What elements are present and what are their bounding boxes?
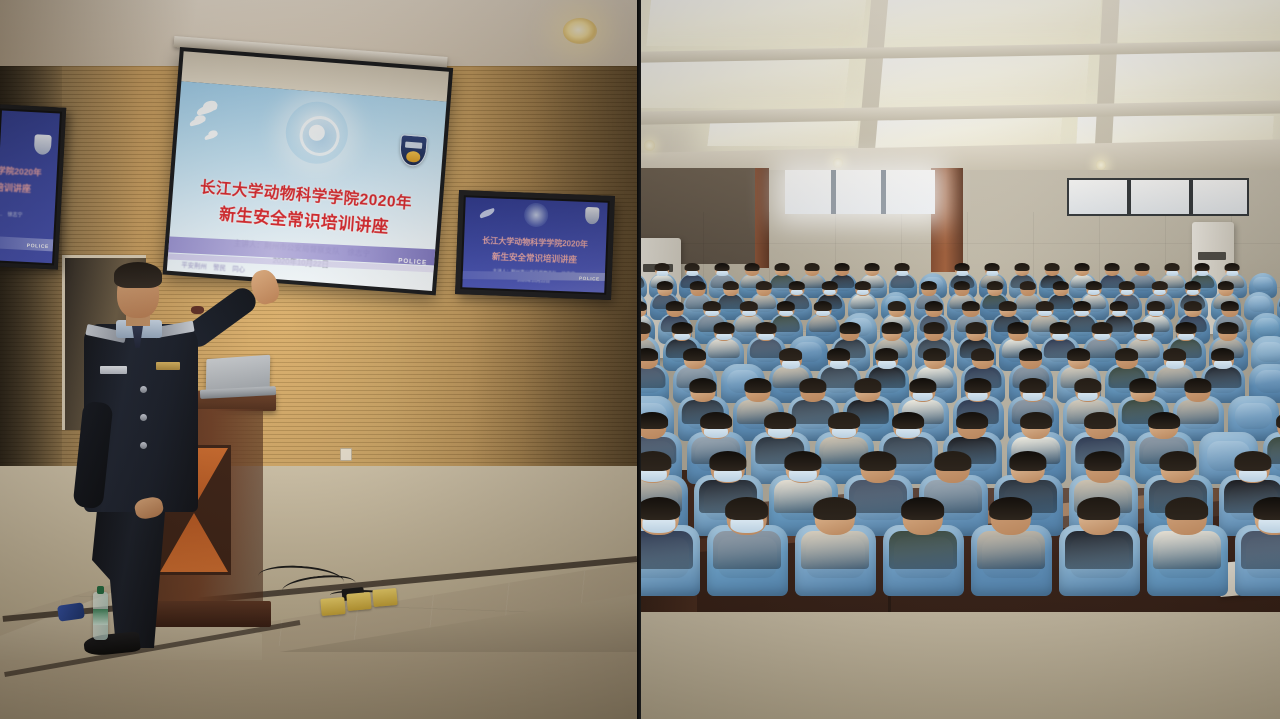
lecture-hall-audience-photo [637, 0, 1280, 719]
audience-member-hair [1165, 263, 1180, 271]
audience-member-hair [1165, 497, 1209, 521]
face-mask [1088, 289, 1100, 295]
bottle-label [93, 609, 108, 625]
audience-member-hair [709, 451, 746, 471]
audience-member-hair [892, 412, 924, 429]
two-photo-composite: 长江大学动物科学学院2020年 新生安全常识培训讲座 主讲人：荆州市公安局督察支… [0, 0, 1280, 719]
audience-member-hair [901, 497, 945, 521]
audience-member-torso [750, 339, 782, 357]
audience-member [786, 455, 821, 505]
ceiling-spotlight-icon [563, 18, 597, 44]
audience-member [829, 415, 858, 458]
audience-member [828, 351, 850, 384]
audience-member [740, 303, 757, 329]
audience-member-hair [755, 322, 776, 334]
audience-member-hair [1152, 281, 1168, 290]
police-emblem-icon [284, 99, 351, 166]
audience-member-hair [1019, 348, 1043, 361]
audience-member-hair [671, 322, 692, 334]
audience-member [814, 303, 831, 329]
audience-member-hair [1148, 412, 1180, 429]
face-mask [1154, 289, 1166, 295]
downlight-icon [644, 140, 655, 151]
audience-member-hair [1009, 451, 1046, 471]
wall-monitor-right: 长江大学动物科学学院2020年 新生安全常识培训讲座 主讲人：荆州市公安局督察支… [455, 190, 615, 300]
audience-member-hair [1045, 263, 1060, 271]
audience-member-hair [1183, 301, 1201, 311]
monitor-left-screen: …学院2020年 …培训讲座 主讲人… 徐志宁 POLICE [0, 110, 60, 263]
face-mask [857, 289, 869, 295]
audience-member-hair [776, 301, 794, 311]
audience-member-hair [1086, 281, 1102, 290]
audience-member-hair [775, 263, 790, 271]
audience-member-hair [813, 301, 831, 311]
downlight-icon [833, 158, 843, 168]
audience-member [638, 501, 678, 560]
audience-member [876, 351, 898, 384]
dove-icon [479, 208, 496, 219]
audience-member [780, 351, 802, 384]
audience-member-hair [895, 263, 910, 271]
audience-member-hair [955, 263, 970, 271]
audience-member-hair [1175, 322, 1196, 334]
monitor-right-title-line2: 新生安全常识培训讲座 [463, 249, 605, 266]
face-mask [768, 427, 792, 438]
slide-surface: 长江大学动物科学学院2020年 新生安全常识培训讲座 主讲人：荆州市公安局督察支… [167, 81, 447, 291]
audience-member-hair [715, 263, 730, 271]
monitor-left-police-wordmark: POLICE [27, 243, 50, 250]
audience-member [1212, 351, 1234, 384]
audience-member-hair [859, 451, 896, 471]
face-mask [1214, 360, 1232, 369]
audience-member-hair [887, 301, 905, 311]
window-mullion [1189, 180, 1193, 214]
audience-member-hair [921, 281, 937, 290]
audience-member-torso [708, 339, 740, 357]
audience-member-torso [977, 531, 1045, 569]
audience-member [1078, 501, 1118, 560]
audience-member-hair [934, 451, 971, 471]
audience-member-hair [1135, 263, 1150, 271]
audience-member-hair [637, 412, 668, 429]
audience-member-hair [964, 378, 991, 393]
audience-member-hair [739, 301, 757, 311]
audience-member-hair [854, 378, 881, 393]
audience-member [714, 325, 733, 354]
audience-member-hair [828, 412, 860, 429]
audience-member-hair [723, 281, 739, 290]
uniform-button [140, 414, 147, 421]
audience-member [1073, 303, 1090, 329]
audience-member-hair [744, 378, 771, 393]
audience-member-hair [1253, 497, 1280, 521]
face-mask [779, 310, 793, 317]
audience-member [990, 501, 1030, 560]
audience-member-hair [1220, 301, 1238, 311]
audience-member [861, 455, 896, 505]
audience-member-hair [657, 281, 673, 290]
audience-member-hair [839, 322, 860, 334]
audience-member-hair [954, 281, 970, 290]
audience-member-hair [1072, 301, 1090, 311]
uniform-button [140, 442, 147, 449]
audience-member-hair [1225, 263, 1240, 271]
audience-member-hair [764, 412, 796, 429]
audience-member-hair [1020, 412, 1052, 429]
audience-member-hair [1015, 263, 1030, 271]
audience-member-hair [1146, 301, 1164, 311]
audience-member-hair [1074, 378, 1101, 393]
auditorium-seats [637, 262, 1280, 562]
audience-member-hair [923, 322, 944, 334]
audience-member-hair [1129, 378, 1156, 393]
monitor-right-police-wordmark: POLICE [579, 276, 600, 282]
audience-member-hair [875, 348, 899, 361]
audience-member-hair [683, 348, 707, 361]
monitor-left-title-line2: …培训讲座 [0, 180, 31, 195]
face-mask [639, 469, 667, 482]
audience-member-torso [849, 480, 907, 512]
cable-floor-cover [346, 592, 371, 611]
audience-member [1185, 381, 1210, 419]
speaker-hair [114, 262, 162, 288]
face-mask [704, 427, 728, 438]
audience-member [1020, 283, 1035, 306]
face-mask [1121, 289, 1133, 295]
police-officer-speaker [60, 262, 250, 652]
audience-member-hair [1109, 301, 1127, 311]
audience-member-hair [1019, 378, 1046, 393]
audience-member-hair [637, 497, 680, 521]
audience-member [756, 283, 771, 306]
audience-member-hair [1067, 348, 1091, 361]
face-mask [830, 360, 848, 369]
audience-member-hair [689, 378, 716, 393]
audience-member [896, 265, 910, 286]
face-mask [791, 289, 803, 295]
audience-member-torso [891, 275, 914, 288]
audience-member-hair [827, 348, 851, 361]
audience-member-hair [700, 412, 732, 429]
face-mask [1075, 310, 1089, 317]
speaker-name-badge [100, 366, 127, 374]
police-shield-badge-icon [34, 134, 52, 155]
audience-member-hair [1053, 281, 1069, 290]
audience-member [814, 501, 854, 560]
rear-window [1067, 178, 1249, 216]
audience-member-hair [1077, 497, 1121, 521]
speaker-mouth [191, 306, 204, 314]
face-mask [832, 427, 856, 438]
audience-member-hair [985, 263, 1000, 271]
audience-member-torso [1086, 339, 1118, 357]
audience-member [1110, 303, 1127, 329]
audience-member-hair [637, 451, 671, 471]
audience-member [745, 381, 770, 419]
audience-member-hair [813, 497, 857, 521]
ceiling-light-panel [878, 0, 1102, 48]
rear-window [785, 170, 935, 214]
audience-member [765, 415, 794, 458]
uniform-button [140, 386, 147, 393]
audience-member-hair [756, 281, 772, 290]
audience-member-hair [1007, 322, 1028, 334]
dove-icon [196, 103, 219, 116]
aisle-floor [637, 612, 1280, 719]
audience-member-hair [799, 378, 826, 393]
audience-member [1050, 325, 1069, 354]
audience-member-hair [1195, 263, 1210, 271]
audience-member-hair [1115, 348, 1139, 361]
audience-member-hair [1217, 322, 1238, 334]
wall-monitor-left: …学院2020年 …培训讲座 主讲人… 徐志宁 POLICE [0, 104, 66, 269]
dove-icon [204, 132, 219, 140]
audience-member [1166, 265, 1180, 286]
monitor-right-title-line1: 长江大学动物科学学院2020年 [464, 234, 606, 250]
audience-member-hair [702, 301, 720, 311]
projection-screen: 长江大学动物科学学院2020年 新生安全常识培训讲座 主讲人：荆州市公安局督察支… [163, 47, 454, 295]
ceiling-light-panel [874, 118, 1062, 148]
audience-member-torso [637, 531, 693, 569]
audience-member-hair [1091, 322, 1112, 334]
audience-member [936, 455, 971, 505]
ceiling-light-panel [637, 56, 850, 108]
face-mask [1112, 310, 1126, 317]
audience-member [893, 415, 922, 458]
audience-member-torso [1065, 531, 1133, 569]
audience-member-torso [889, 531, 957, 569]
audience-member-hair [989, 497, 1033, 521]
audience-member-hair [1276, 412, 1280, 429]
audience-member-hair [1163, 348, 1187, 361]
audience-member-hair [998, 301, 1016, 311]
water-bottle [93, 592, 108, 640]
audience-member-hair [1133, 322, 1154, 334]
audience-member-hair [822, 281, 838, 290]
audience-member-hair [1218, 281, 1234, 290]
audience-member-hair [779, 348, 803, 361]
photo-divider [637, 0, 641, 719]
window-mullion [881, 170, 886, 214]
police-shield-badge-icon [399, 134, 428, 167]
audience-member [723, 283, 738, 306]
audience-member-hair [1035, 301, 1053, 311]
audience-member-hair [655, 263, 670, 271]
audience-member [726, 501, 766, 560]
audience-member-hair [971, 348, 995, 361]
police-emblem-icon [524, 203, 549, 228]
audience-member [756, 325, 775, 354]
audience-member [1134, 325, 1153, 354]
audience-member-hair [685, 263, 700, 271]
audience-member [836, 265, 850, 286]
monitor-left-subtitle: 主讲人… 徐志宁 [0, 210, 23, 219]
audience-member-hair [1211, 348, 1235, 361]
audience-member [855, 283, 870, 306]
face-mask [1239, 469, 1267, 482]
audience-member [855, 381, 880, 419]
audience-member-hair [1020, 281, 1036, 290]
face-mask [1166, 360, 1184, 369]
audience-member-hair [961, 301, 979, 311]
audience-member-torso [637, 367, 665, 388]
police-shield-badge-icon [585, 207, 600, 225]
audience-member-hair [665, 301, 683, 311]
audience-member-hair [1105, 263, 1120, 271]
face-mask [742, 310, 756, 317]
audience-member-hair [1234, 451, 1271, 471]
audience-member-hair [1159, 451, 1196, 471]
ceiling-light-panel [863, 54, 1089, 110]
face-mask [705, 310, 719, 317]
monitor-right-screen: 长江大学动物科学学院2020年 新生安全常识培训讲座 主讲人：荆州市公安局督察支… [462, 197, 607, 292]
audience-member [1130, 381, 1155, 419]
face-mask [1149, 310, 1163, 317]
audience-member-hair [835, 263, 850, 271]
audience-member-hair [1084, 451, 1121, 471]
audience-member-hair [745, 263, 760, 271]
cable-floor-cover [320, 597, 345, 616]
audience-member-torso [713, 531, 781, 569]
audience-member [1166, 501, 1206, 560]
audience-member [1164, 351, 1186, 384]
audience-member-hair [1184, 378, 1211, 393]
audience-member-hair [881, 322, 902, 334]
ceiling-light-panel [1104, 52, 1280, 106]
audience-member-hair [1119, 281, 1135, 290]
face-mask [1187, 289, 1199, 295]
audience-member-hair [1084, 412, 1116, 429]
audience-member-torso [1241, 531, 1280, 569]
audience-member-hair [909, 378, 936, 393]
face-mask [714, 469, 742, 482]
monitor-left-title-line1: …学院2020年 [0, 164, 42, 179]
audience-member [777, 303, 794, 329]
face-mask [1038, 310, 1052, 317]
audience-member-torso [801, 531, 869, 569]
audience-member [1053, 283, 1068, 306]
audience-member-hair [965, 322, 986, 334]
window-mullion [831, 170, 836, 214]
audience-member-hair [855, 281, 871, 290]
audience-member-hair [987, 281, 1003, 290]
face-mask [782, 360, 800, 369]
audience-member [902, 501, 942, 560]
downlight-icon [1096, 160, 1106, 170]
audience-member-hair [784, 451, 821, 471]
audience-member-torso [1153, 531, 1221, 569]
wall-socket [340, 448, 352, 461]
face-mask [824, 289, 836, 295]
audience-member-hair [1185, 281, 1201, 290]
face-mask [896, 427, 920, 438]
audience-member [800, 381, 825, 419]
audience-member-torso [1176, 400, 1218, 424]
speaker-chest-patch [156, 362, 180, 370]
audience-member-hair [690, 281, 706, 290]
face-mask [789, 469, 817, 482]
lecture-hall-speaker-photo: 长江大学动物科学学院2020年 新生安全常识培训讲座 主讲人：荆州市公安局督察支… [0, 0, 637, 719]
audience-member [1106, 265, 1120, 286]
window-mullion [1127, 180, 1131, 214]
audience-member-hair [725, 497, 769, 521]
audience-member [1092, 325, 1111, 354]
audience-member-hair [956, 412, 988, 429]
audience-member-hair [1075, 263, 1090, 271]
ceiling-light-panel [1116, 0, 1280, 42]
audience-member-hair [865, 263, 880, 271]
audience-member-hair [789, 281, 805, 290]
audience-member [1254, 501, 1280, 560]
audience-member-hair [923, 348, 947, 361]
audience-member [806, 265, 820, 286]
face-mask [878, 360, 896, 369]
ceiling-light-panel [646, 0, 866, 46]
audience-member-torso [808, 315, 837, 331]
cable-floor-cover [372, 588, 397, 607]
audience-member [1136, 265, 1150, 286]
audience-member-hair [1049, 322, 1070, 334]
dove-icon [189, 117, 207, 127]
audience-member-hair [713, 322, 734, 334]
face-mask [816, 310, 830, 317]
audience-member-hair [805, 263, 820, 271]
audience-member [776, 265, 790, 286]
audience-member-hair [924, 301, 942, 311]
